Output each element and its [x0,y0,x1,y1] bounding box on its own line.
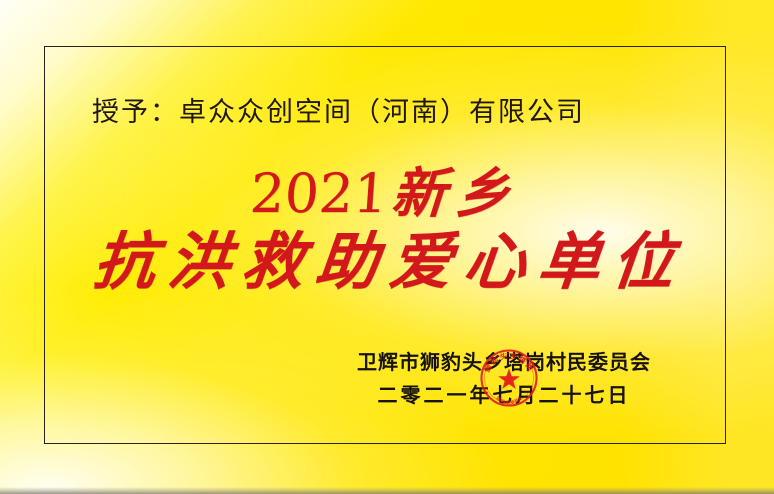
title-year: 2021 [248,162,390,225]
plaque-signature-block: 卫辉市狮豹头乡塔岗村民委员会 二零二一年七月二十七日 [300,350,708,407]
title-place: 新乡 [386,161,522,225]
issuing-organization: 卫辉市狮豹头乡塔岗村民委员会 [300,350,708,374]
photo-bottom-shadow [0,487,774,494]
title-award-name: 抗洪救助爱心单位 [41,229,730,294]
award-plaque: 授予：卓众众创空间（河南）有限公司 2021新乡 抗洪救助爱心单位 卫辉市狮豹头… [0,0,774,494]
plaque-title-block: 2021新乡 抗洪救助爱心单位 [44,166,726,294]
title-line-year-place: 2021新乡 [42,166,728,221]
award-recipient-line: 授予：卓众众创空间（河南）有限公司 [92,98,585,128]
issue-date: 二零二一年七月二十七日 [300,383,708,407]
